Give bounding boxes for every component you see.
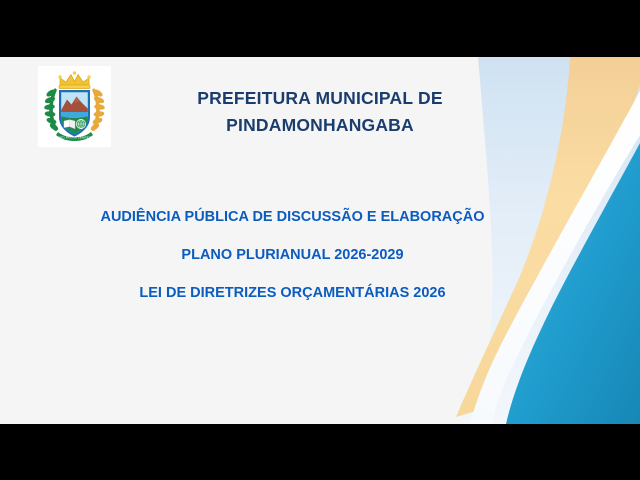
letterbox-bar-bottom <box>0 424 640 480</box>
coat-of-arms-icon: PRO PATRIA SEMPER <box>38 66 111 147</box>
body-line-audiencia: AUDIÊNCIA PÚBLICA DE DISCUSSÃO E ELABORA… <box>0 209 585 225</box>
globe-icon <box>76 119 85 128</box>
body-line-ldo: LEI DE DIRETRIZES ORÇAMENTÁRIAS 2026 <box>0 285 585 301</box>
river-shape <box>61 112 88 118</box>
page-title-line-1: PREFEITURA MUNICIPAL DE <box>120 85 520 112</box>
slide-canvas: PRO PATRIA SEMPER PREFEITURA MUNICIPAL D… <box>0 57 640 424</box>
page-title-line-2: PINDAMONHANGABA <box>120 112 520 139</box>
letterbox-bar-top <box>0 0 640 57</box>
motto-text: PRO PATRIA SEMPER <box>58 136 91 140</box>
video-slide-frame: PRO PATRIA SEMPER PREFEITURA MUNICIPAL D… <box>0 0 640 480</box>
slide-body-text: AUDIÊNCIA PÚBLICA DE DISCUSSÃO E ELABORA… <box>0 209 585 301</box>
page-title: PREFEITURA MUNICIPAL DE PINDAMONHANGABA <box>120 85 520 139</box>
body-line-ppa: PLANO PLURIANUAL 2026-2029 <box>0 247 585 263</box>
coat-of-arms-emblem: PRO PATRIA SEMPER <box>38 66 111 147</box>
